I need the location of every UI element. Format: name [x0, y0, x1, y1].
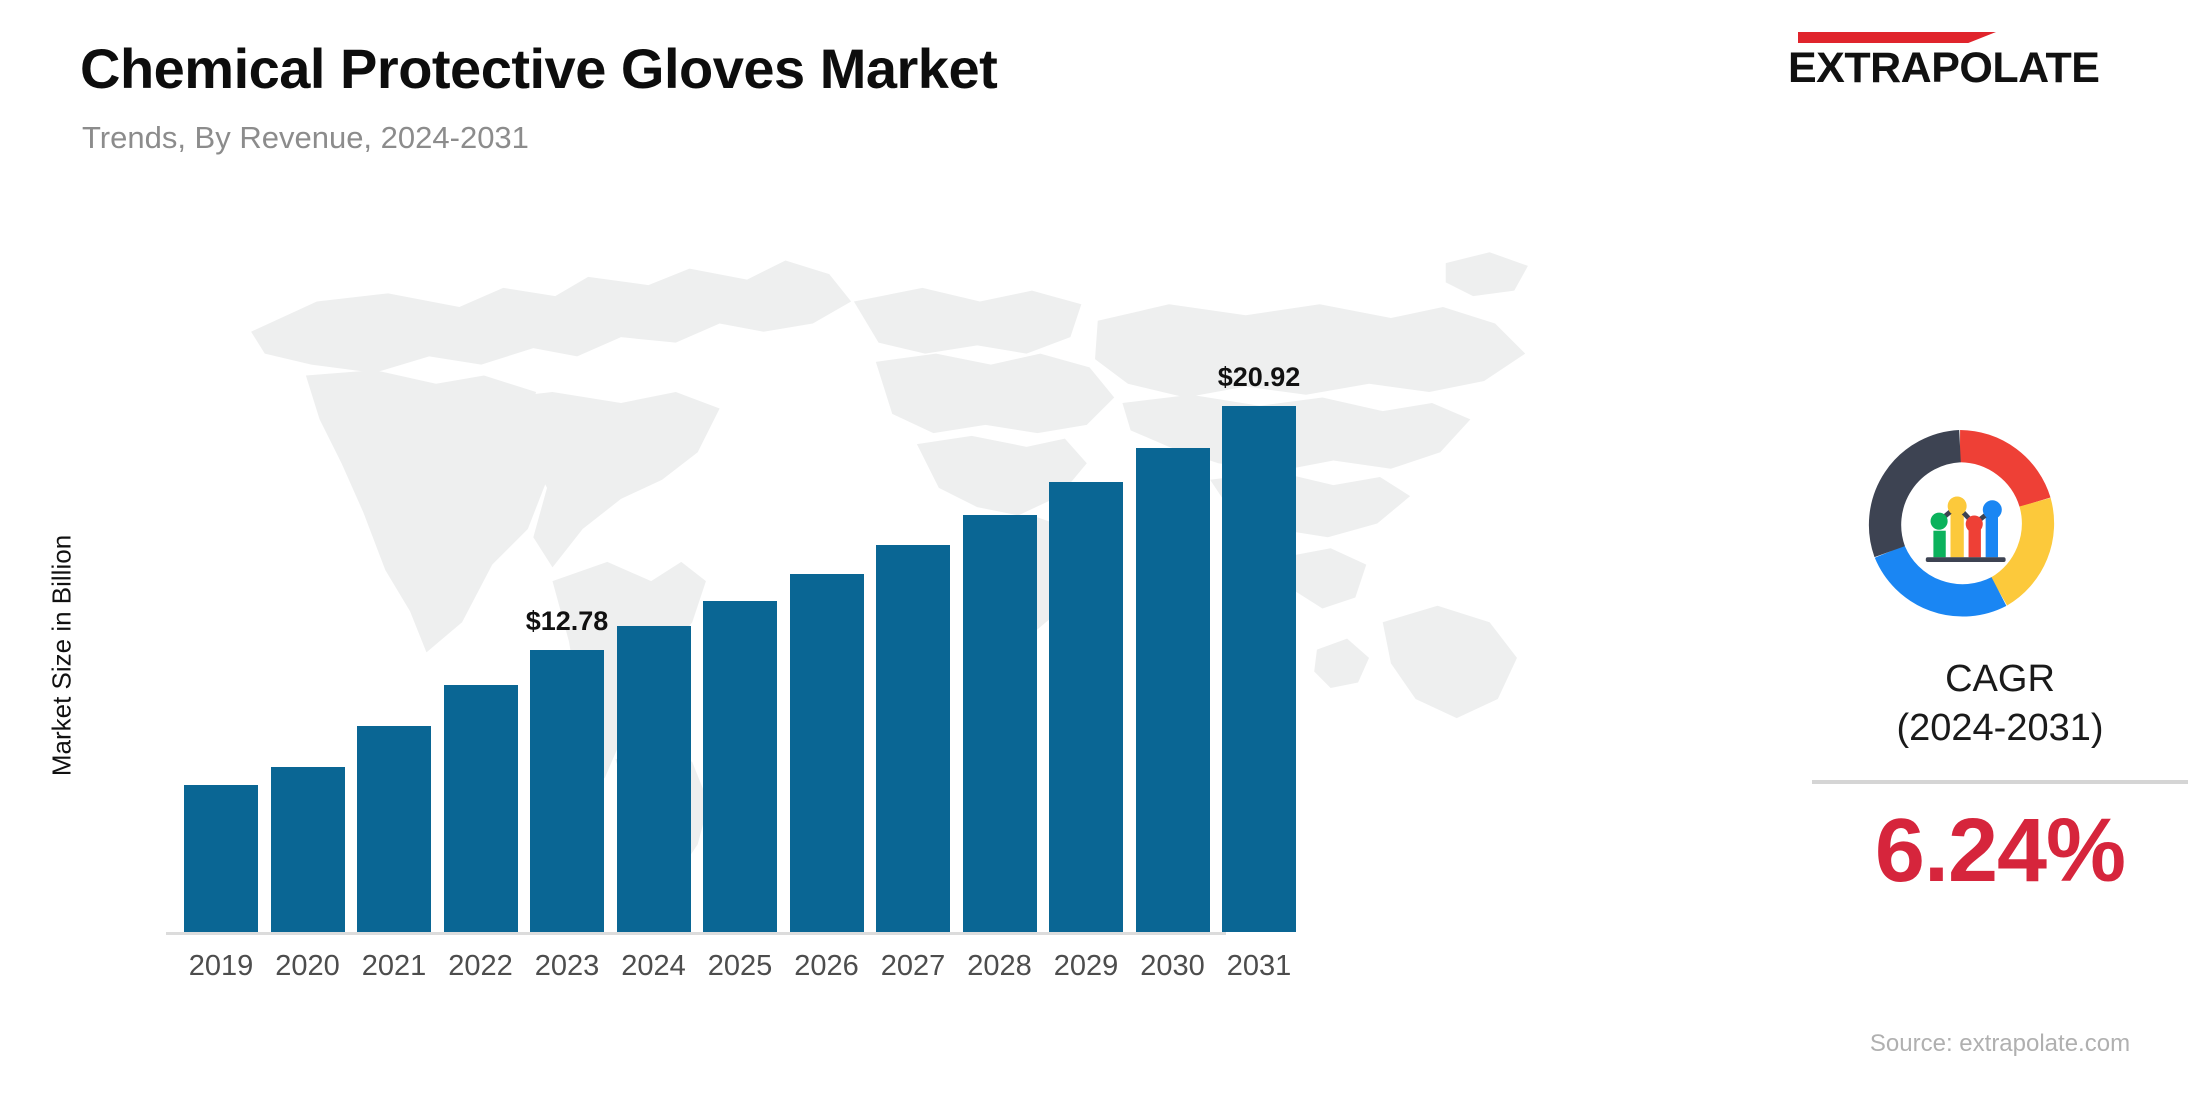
bar-2025[interactable]: [703, 601, 777, 932]
logo-accent-bar-icon: [1798, 32, 1996, 43]
logo-wordmark: EXTRAPOLATE: [1788, 44, 2099, 93]
bar-2020[interactable]: [271, 767, 345, 932]
header: Chemical Protective Gloves Market Trends…: [0, 0, 2200, 170]
chart-container: Market Size in Billion 20192020202120222…: [0, 170, 1760, 1100]
bar-2027[interactable]: [876, 545, 950, 932]
cagr-title-text: CAGR: [1800, 655, 2200, 704]
bar-2024[interactable]: [617, 626, 691, 932]
bar-2026[interactable]: [790, 574, 864, 932]
x-tick-2031: 2031: [1204, 950, 1314, 983]
divider: [1812, 780, 2188, 784]
bar-2022[interactable]: [444, 685, 518, 932]
extrapolate-logo: EXTRAPOLATE: [1788, 28, 2144, 100]
page-title: Chemical Protective Gloves Market: [80, 36, 997, 101]
bar-2019[interactable]: [184, 785, 258, 932]
source-note: Source: extrapolate.com: [1800, 1030, 2200, 1058]
infographic-page: Chemical Protective Gloves Market Trends…: [0, 0, 2200, 1100]
x-axis-line: [166, 932, 1226, 935]
value-label-2031: $20.92: [1179, 362, 1339, 393]
bar-2031[interactable]: [1222, 406, 1296, 932]
cagr-value: 6.24%: [1800, 800, 2200, 903]
cagr-label: CAGR (2024-2031): [1800, 655, 2200, 752]
bar-2028[interactable]: [963, 515, 1037, 933]
value-label-2023: $12.78: [487, 606, 647, 637]
bar-2029[interactable]: [1049, 482, 1123, 932]
bar-2030[interactable]: [1136, 448, 1210, 932]
bar-2023[interactable]: [530, 650, 604, 932]
plot-area: 2019202020212022202320242025202620272028…: [0, 170, 1760, 1100]
page-subtitle: Trends, By Revenue, 2024-2031: [82, 120, 529, 156]
bar-2021[interactable]: [357, 726, 431, 932]
cagr-period-text: (2024-2031): [1800, 704, 2200, 753]
market-research-donut-icon: [1865, 430, 2055, 620]
cagr-panel: CAGR (2024-2031) 6.24% Source: extrapola…: [1800, 430, 2200, 1070]
